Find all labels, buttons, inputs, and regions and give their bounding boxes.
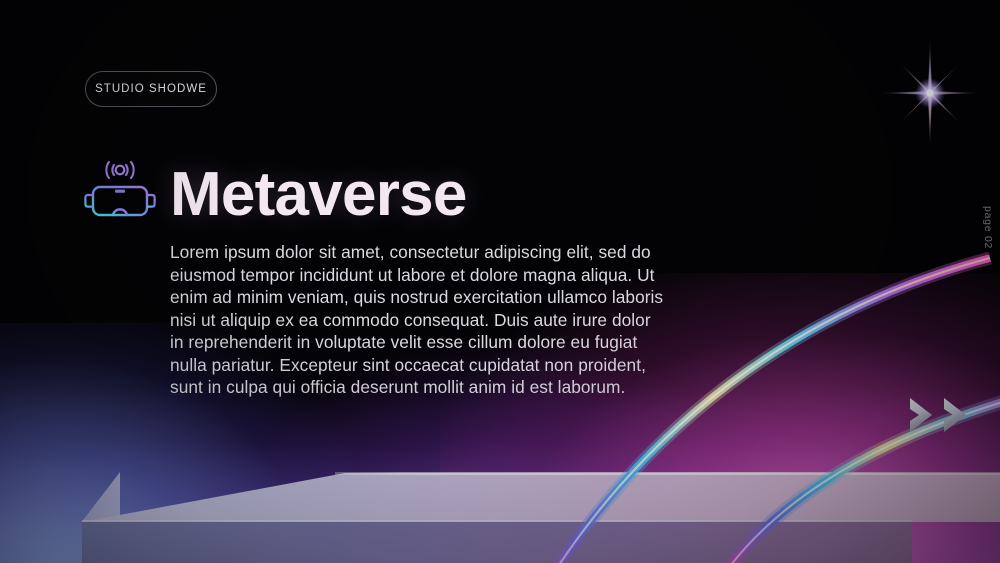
- vignette-overlay: [0, 0, 1000, 563]
- presentation-slide: STUDIO SHODWE: [0, 0, 1000, 563]
